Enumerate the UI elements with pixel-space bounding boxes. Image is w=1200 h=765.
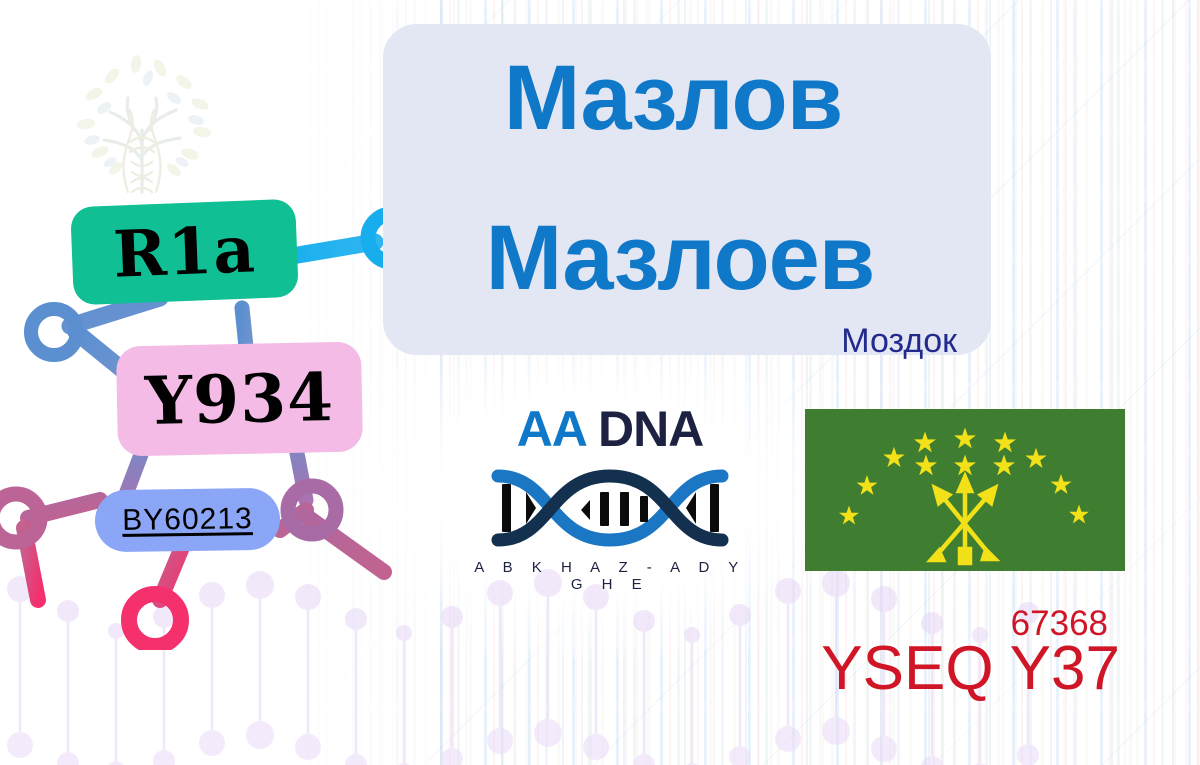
poster-canvas: Мазлов Мазлоев Моздок R1a Y934 BY60213 A… (0, 0, 1200, 765)
subclade-badge-y934[interactable]: Y934 (116, 341, 363, 456)
subclade-badge-y934-label: Y934 (144, 358, 334, 440)
aadna-logo-tagline: A B K H A Z - A D Y G H E (470, 559, 750, 593)
haplogroup-badge-r1a-label: R1a (112, 212, 257, 292)
place-name: Моздок (841, 324, 957, 358)
aadna-logo: AA DNA A B K H A Z - A D Y G H E (470, 404, 750, 584)
surname-primary: Мазлов (383, 52, 963, 144)
haplogroup-badge-r1a[interactable]: R1a (70, 199, 299, 306)
surname-card: Мазлов Мазлоев Моздок (383, 24, 991, 355)
terminal-snp-badge-by60213-label: BY60213 (122, 502, 253, 538)
aadna-logo-wordmark-dark: DNA (585, 401, 703, 457)
surname-variant: Мазлоев (383, 212, 977, 304)
terminal-snp-badge-by60213[interactable]: BY60213 (95, 488, 281, 553)
test-panel-label: YSEQ Y37 (821, 638, 1120, 700)
aadna-logo-wordmark-accent: AA (517, 401, 585, 457)
aadna-logo-wordmark: AA DNA (470, 404, 750, 454)
circassian-flag-emblem (805, 409, 1125, 571)
circassian-flag (805, 409, 1125, 571)
dna-helix-icon (480, 462, 740, 554)
